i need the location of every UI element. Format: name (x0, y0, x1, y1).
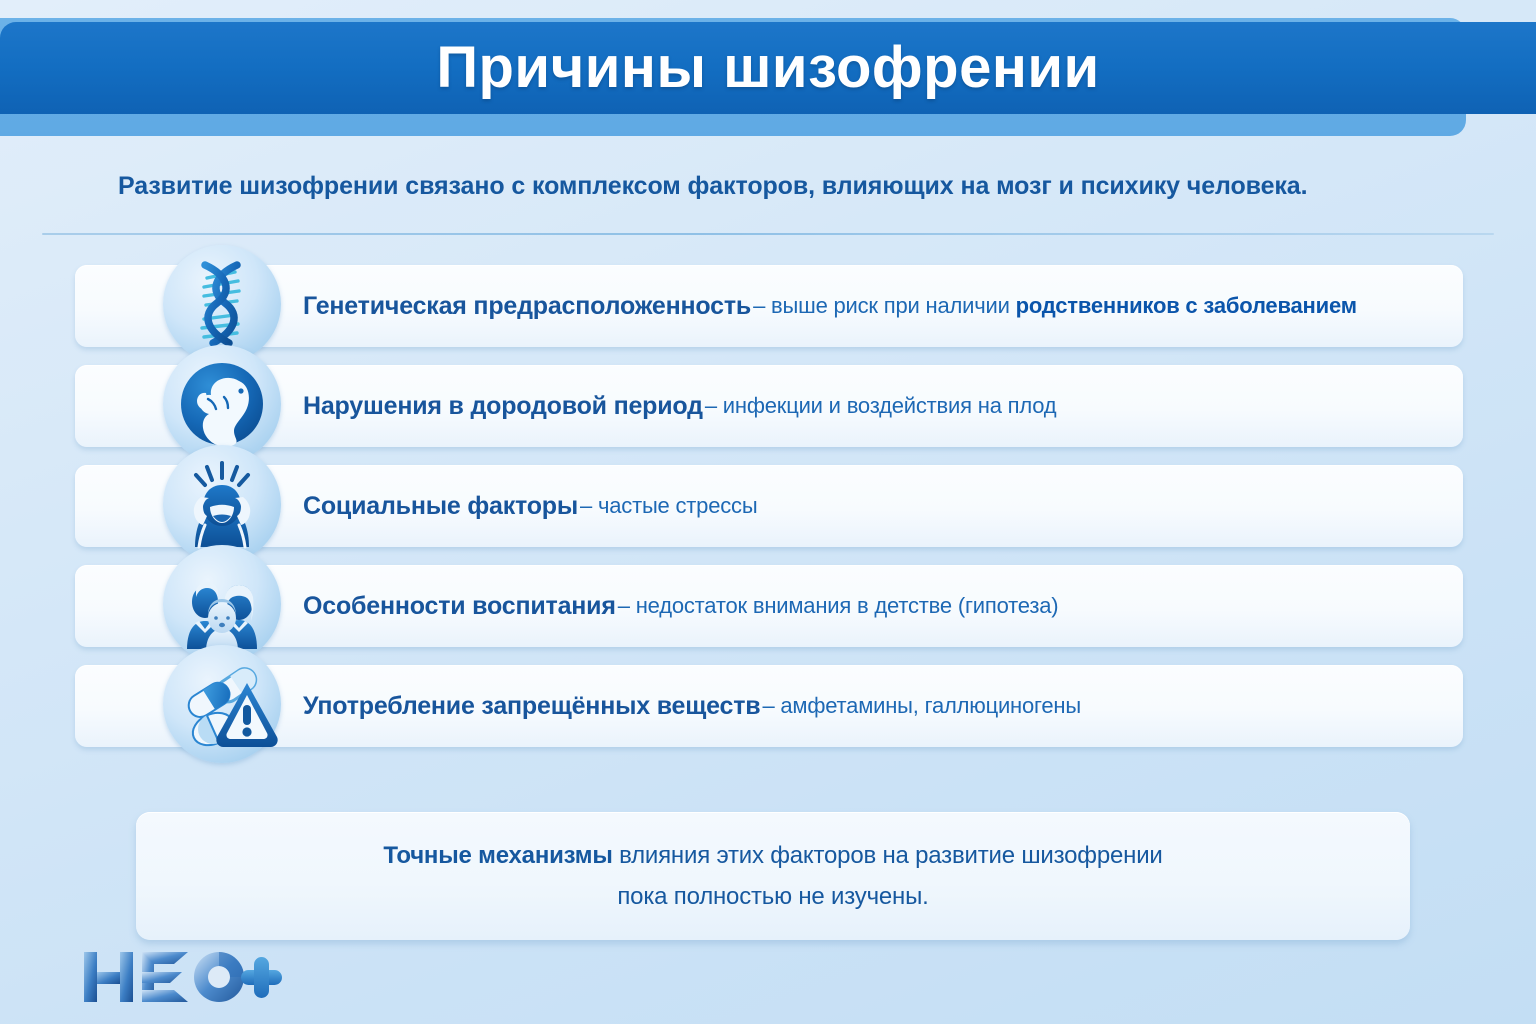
conclusion-rest: влияния этих факторов на развитие шизофр… (613, 842, 1163, 869)
factor-dash: – (580, 493, 598, 518)
factor-text: Особенности воспитания – недостаток вним… (303, 565, 1058, 647)
factor-text: Генетическая предрасположенность – выше … (303, 265, 1357, 347)
factor-text: Социальные факторы – частые стрессы (303, 465, 757, 547)
factor-description: – недостаток внимания в детстве (гипотез… (618, 593, 1059, 619)
conclusion-strong: Точные механизмы (383, 842, 612, 869)
factor-dash: – (753, 293, 771, 318)
factor-description: – частые стрессы (580, 493, 757, 519)
header-band: Причины шизофрении (0, 22, 1536, 114)
factor-description: – амфетамины, галлюциногены (762, 693, 1081, 719)
factor-text: Употребление запрещённых веществ – амфет… (303, 665, 1081, 747)
intro-divider (42, 233, 1494, 235)
factor-dash: – (618, 593, 636, 618)
factor-list: Генетическая предрасположенность – выше … (0, 265, 1536, 765)
neo-plus-logo[interactable] (82, 948, 282, 1006)
factor-desc-highlight: родственников с заболеванием (1016, 293, 1357, 318)
factor-desc-plain: амфетамины, галлюциногены (780, 693, 1081, 718)
factor-title: Употребление запрещённых веществ (303, 692, 760, 721)
factor-description: – выше риск при наличии родственников с … (753, 293, 1357, 319)
factor-title: Нарушения в дородовой период (303, 392, 703, 421)
factor-description: – инфекции и воздействия на плод (705, 393, 1057, 419)
conclusion-box: Точные механизмы влияния этих факторов н… (136, 812, 1410, 940)
factor-card[interactable] (75, 465, 1463, 547)
page-title: Причины шизофрении (436, 39, 1099, 97)
pills-warning-icon (163, 645, 281, 763)
factor-dash: – (705, 393, 723, 418)
conclusion-line-2: пока полностью не изучены. (617, 883, 928, 911)
factor-dash: – (762, 693, 780, 718)
intro-text: Развитие шизофрении связано с комплексом… (118, 172, 1438, 201)
factor-desc-plain: выше риск при наличии (771, 293, 1016, 318)
factor-title: Социальные факторы (303, 492, 578, 521)
page-header: Причины шизофрении (0, 0, 1536, 150)
factor-desc-plain: недостаток внимания в детстве (гипотеза) (636, 593, 1059, 618)
factor-desc-plain: частые стрессы (598, 493, 758, 518)
factor-title: Особенности воспитания (303, 592, 616, 621)
list-item[interactable]: Употребление запрещённых веществ – амфет… (0, 665, 1536, 765)
conclusion-line-1: Точные механизмы влияния этих факторов н… (383, 842, 1162, 870)
factor-title: Генетическая предрасположенность (303, 292, 751, 321)
factor-text: Нарушения в дородовой период – инфекции … (303, 365, 1056, 447)
factor-desc-plain: инфекции и воздействия на плод (723, 393, 1057, 418)
